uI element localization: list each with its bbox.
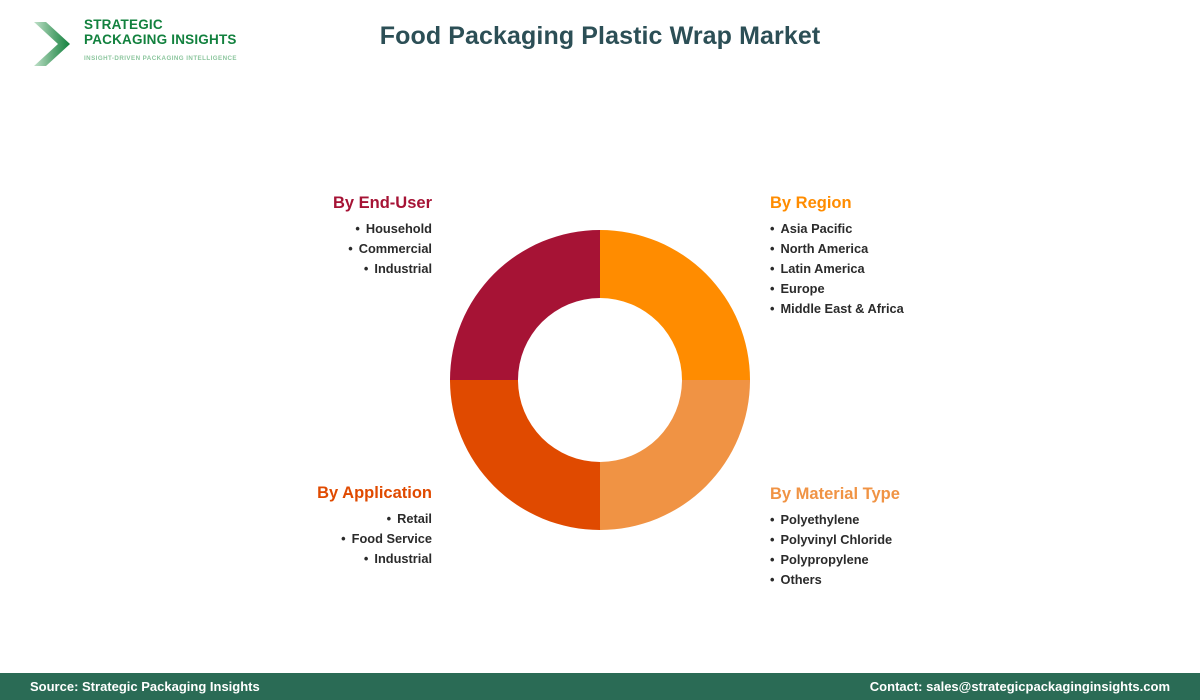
segment-material-type: By Material Type Polyethylene Polyvinyl … <box>770 485 1070 590</box>
list-item: Retail <box>178 509 432 529</box>
segment-end-user-list: Household Commercial Industrial <box>178 219 432 279</box>
list-item: Middle East & Africa <box>770 299 1070 319</box>
donut-chart <box>450 230 750 530</box>
donut-slice-application <box>450 380 600 530</box>
list-item: Asia Pacific <box>770 219 1070 239</box>
logo-tagline: INSIGHT-DRIVEN PACKAGING INTELLIGENCE <box>84 55 237 62</box>
list-item: Europe <box>770 279 1070 299</box>
segment-region-list: Asia Pacific North America Latin America… <box>770 219 1070 319</box>
segment-application-list: Retail Food Service Industrial <box>178 509 432 569</box>
segment-end-user: By End-User Household Commercial Industr… <box>178 194 432 279</box>
segment-application: By Application Retail Food Service Indus… <box>178 484 432 569</box>
list-item: North America <box>770 239 1070 259</box>
segment-material-type-list: Polyethylene Polyvinyl Chloride Polyprop… <box>770 510 1070 590</box>
list-item: Polyvinyl Chloride <box>770 530 1070 550</box>
segment-application-heading: By Application <box>178 484 432 503</box>
list-item: Latin America <box>770 259 1070 279</box>
footer-contact: Contact: sales@strategicpackaginginsight… <box>870 679 1170 694</box>
list-item: Polypropylene <box>770 550 1070 570</box>
list-item: Food Service <box>178 529 432 549</box>
page-title: Food Packaging Plastic Wrap Market <box>0 22 1200 51</box>
list-item: Commercial <box>178 239 432 259</box>
list-item: Polyethylene <box>770 510 1070 530</box>
infographic-page: STRATEGIC PACKAGING INSIGHTS INSIGHT-DRI… <box>0 0 1200 700</box>
donut-slice-material-type <box>600 380 750 530</box>
segment-region-heading: By Region <box>770 194 1070 213</box>
donut-slice-region <box>600 230 750 380</box>
footer-source: Source: Strategic Packaging Insights <box>30 679 260 694</box>
segment-region: By Region Asia Pacific North America Lat… <box>770 194 1070 319</box>
segment-material-type-heading: By Material Type <box>770 485 1070 504</box>
list-item: Others <box>770 570 1070 590</box>
list-item: Industrial <box>178 549 432 569</box>
segment-end-user-heading: By End-User <box>178 194 432 213</box>
list-item: Industrial <box>178 259 432 279</box>
footer-bar: Source: Strategic Packaging Insights Con… <box>0 673 1200 700</box>
list-item: Household <box>178 219 432 239</box>
donut-slice-end-user <box>450 230 600 380</box>
